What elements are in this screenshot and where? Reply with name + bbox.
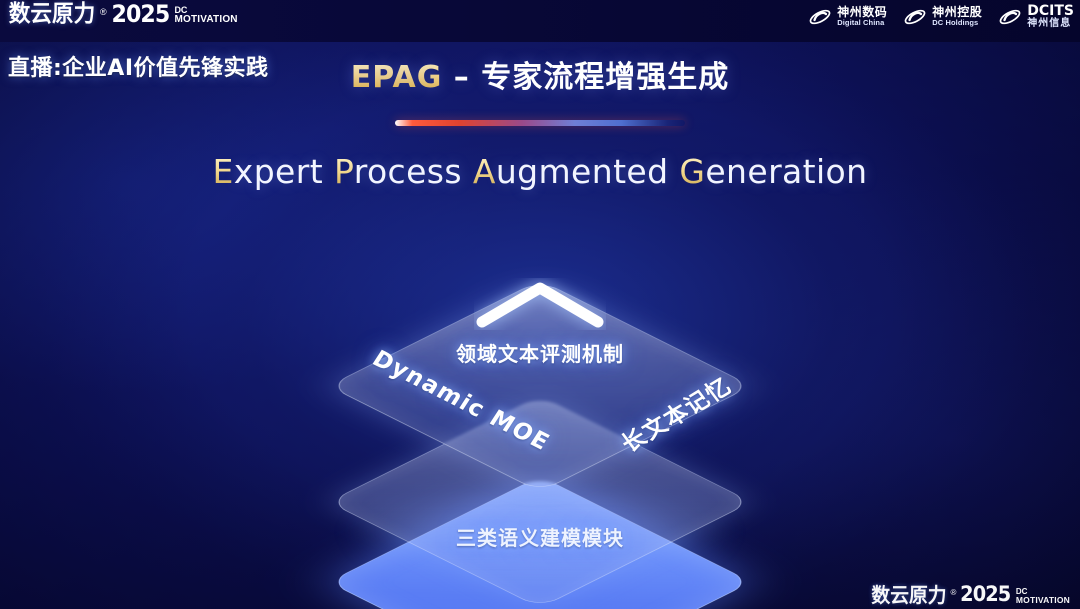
live-stream-title: 直播:企业AI价值先锋实践 — [8, 50, 269, 82]
brand-logo: 数云原力 ® 2025 DC MOTIVATION — [6, 2, 238, 26]
partner-name-en: DC Holdings — [932, 19, 982, 27]
watermark-motivation: MOTIVATION — [1016, 596, 1070, 605]
subtitle-word-augmented: ugmented — [496, 152, 680, 191]
partner-logo-group: 神州数码 Digital China 神州控股 DC Holdings DCIT… — [808, 4, 1074, 29]
subtitle-cap-g: G — [679, 152, 705, 191]
subtitle-word-generation: eneration — [705, 152, 867, 191]
subtitle-cap-e: E — [213, 152, 234, 191]
watermark-registered-mark: ® — [951, 588, 957, 597]
chevron-up-icon — [474, 278, 606, 330]
partner-name-en: Digital China — [837, 19, 887, 27]
slide-stage: 数云原力 ® 2025 DC MOTIVATION 直播:企业AI价值先锋实践 … — [0, 0, 1080, 609]
swirl-icon — [903, 5, 927, 29]
subtitle-word-process: rocess — [354, 152, 473, 191]
partner-name-en: 神州信息 — [1027, 19, 1074, 30]
brand-name-cn: 数云原力 — [9, 3, 95, 26]
layer-bottom-label: 三类语义建模模块 — [456, 522, 624, 551]
partner-name-cn: DCITS — [1027, 4, 1074, 19]
watermark-dc-motivation: DC MOTIVATION — [1016, 588, 1070, 605]
brand-year: 2025 — [111, 2, 169, 26]
registered-mark: ® — [100, 7, 107, 17]
layered-architecture-diagram: 领域文本评测机制 Dynamic MOE 长文本记忆 三类语义建模模块 — [280, 236, 800, 566]
watermark-name-cn: 数云原力 — [871, 585, 946, 605]
subtitle-english: Expert Process Augmented Generation — [0, 152, 1080, 191]
swirl-icon — [998, 5, 1022, 29]
title-dash: – — [442, 60, 481, 95]
title-acronym: EPAG — [351, 60, 443, 95]
layer-top-label: 领域文本评测机制 — [456, 338, 624, 367]
partner-logo-digital-china: 神州数码 Digital China — [808, 5, 887, 29]
brand-motivation: MOTIVATION — [174, 15, 237, 25]
title-chinese: 专家流程增强生成 — [481, 60, 729, 95]
subtitle-word-expert: xpert — [234, 152, 334, 191]
swirl-icon — [808, 5, 832, 29]
partner-logo-dcits: DCITS 神州信息 — [998, 4, 1074, 29]
brand-watermark: 数云原力 ® 2025 DC MOTIVATION — [869, 584, 1070, 605]
subtitle-cap-a: A — [473, 152, 496, 191]
watermark-year: 2025 — [961, 584, 1011, 605]
partner-logo-dc-holdings: 神州控股 DC Holdings — [903, 5, 982, 29]
subtitle-cap-p: P — [334, 152, 354, 191]
brand-dc-motivation: DC MOTIVATION — [174, 6, 237, 25]
accent-divider — [395, 120, 685, 126]
